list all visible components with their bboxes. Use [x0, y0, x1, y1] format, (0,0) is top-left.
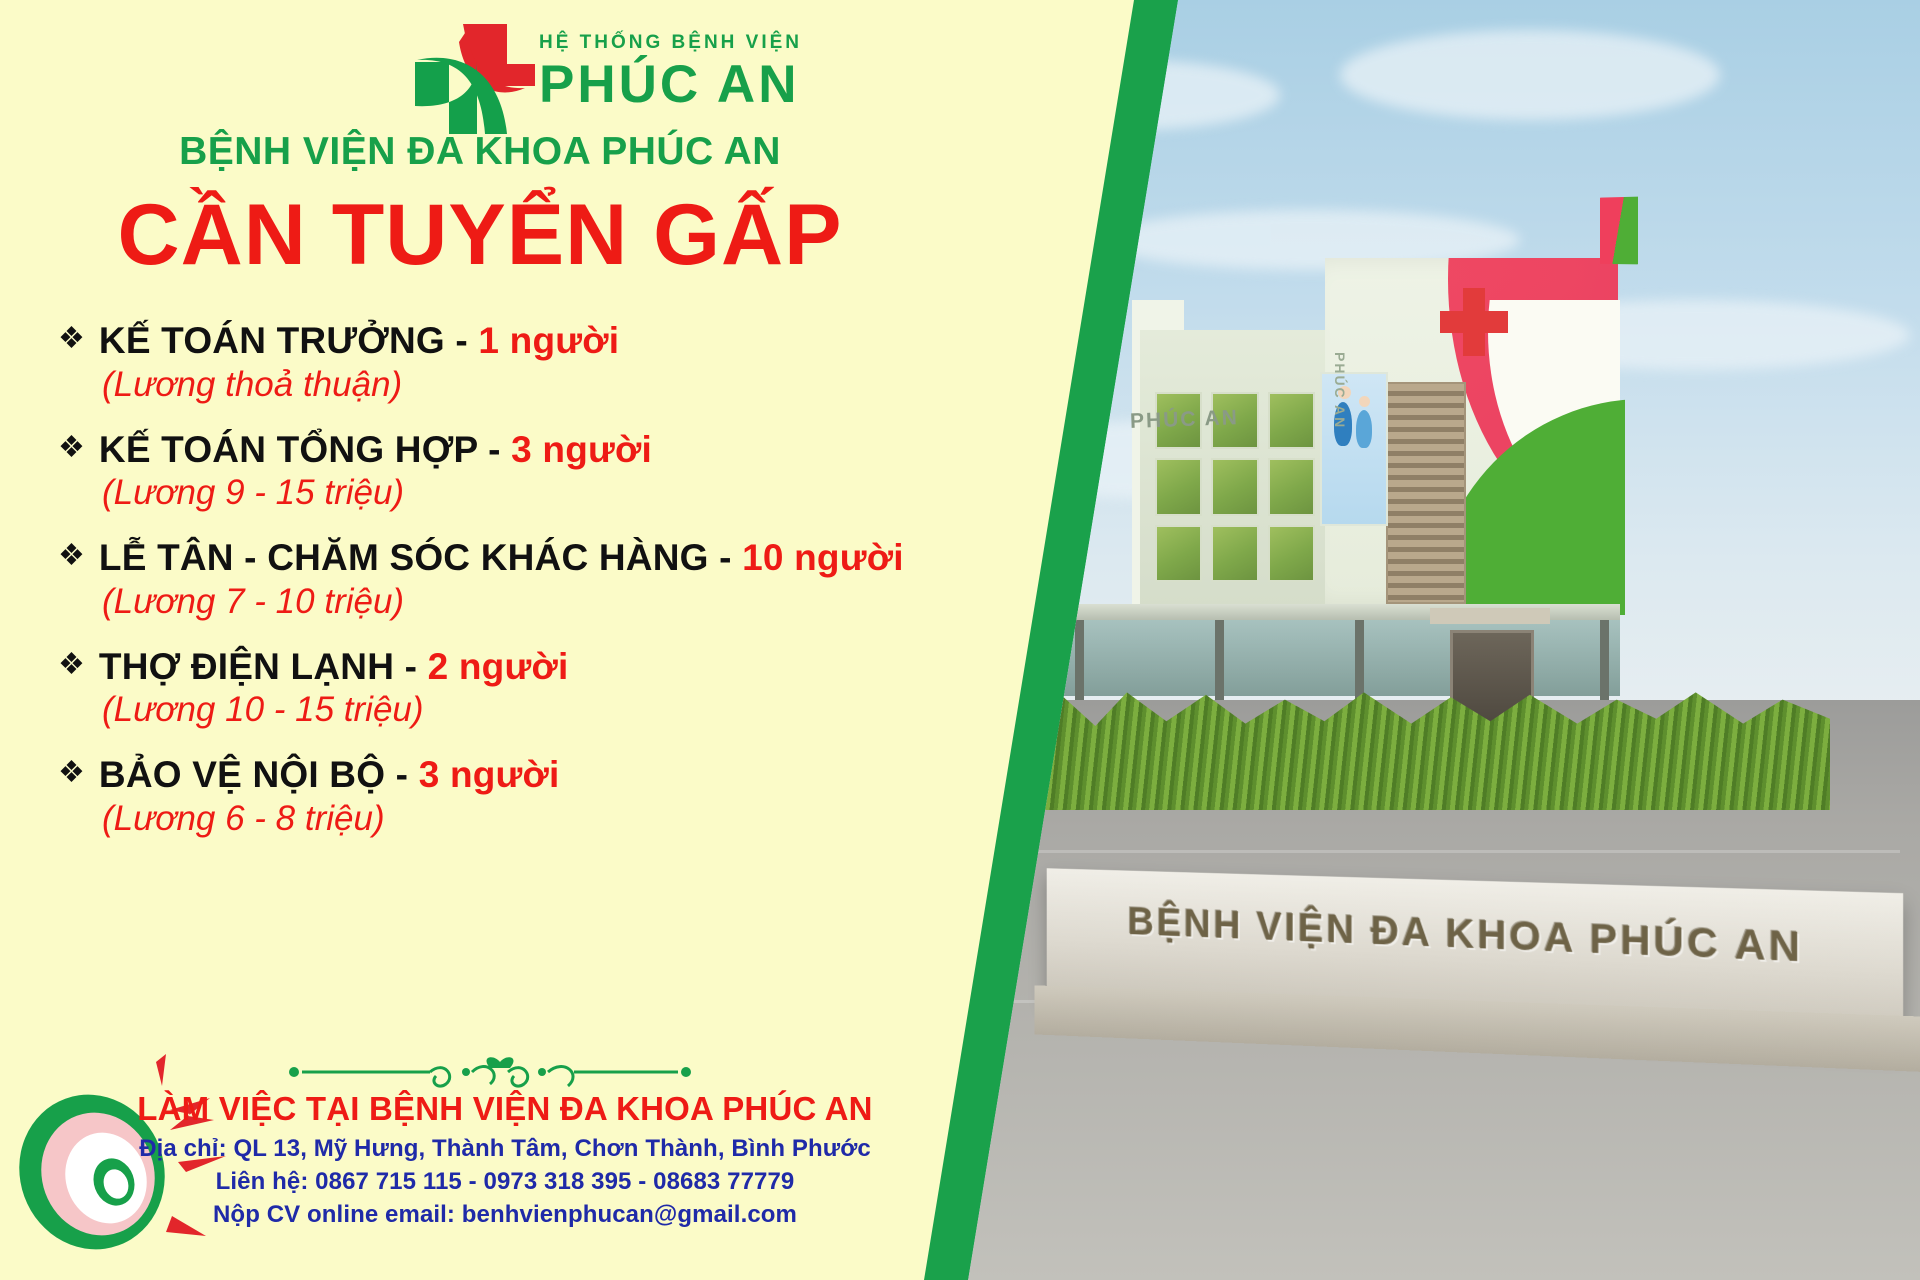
- job-title: KẾ TOÁN TRƯỞNG - 1 người: [99, 320, 619, 363]
- list-item: ❖ LỄ TÂN - CHĂM SÓC KHÁC HÀNG - 10 người…: [58, 537, 988, 622]
- floral-ornament-divider-icon: [280, 1052, 700, 1092]
- list-item: ❖ KẾ TOÁN TRƯỞNG - 1 người (Lương thoả t…: [58, 320, 988, 405]
- diamond-bullet-icon: ❖: [58, 756, 85, 791]
- diamond-bullet-icon: ❖: [58, 322, 85, 357]
- job-position: LỄ TÂN - CHĂM SÓC KHÁC HÀNG -: [99, 537, 742, 578]
- diamond-bullet-icon: ❖: [58, 431, 85, 466]
- hospital-name: BỆNH VIỆN ĐA KHOA PHÚC AN: [0, 130, 960, 174]
- facade-poster-panel: [1320, 372, 1388, 526]
- job-title: LỄ TÂN - CHĂM SÓC KHÁC HÀNG - 10 người: [99, 537, 904, 580]
- diamond-bullet-icon: ❖: [58, 539, 85, 574]
- job-salary: (Lương thoả thuận): [102, 365, 988, 405]
- address-line: Địa chỉ: QL 13, Mỹ Hưng, Thành Tâm, Chơn…: [110, 1132, 900, 1165]
- work-at-title: LÀM VIỆC TẠI BỆNH VIỆN ĐA KHOA PHÚC AN: [110, 1090, 900, 1128]
- footer-contact-block: LÀM VIỆC TẠI BỆNH VIỆN ĐA KHOA PHÚC AN Đ…: [110, 1090, 900, 1231]
- job-count: 1 người: [478, 320, 619, 361]
- building-facade-label: PHÚC AN: [1130, 406, 1240, 434]
- diamond-bullet-icon: ❖: [58, 648, 85, 683]
- job-salary: (Lương 7 - 10 triệu): [102, 582, 988, 622]
- job-position: KẾ TOÁN TỔNG HỢP -: [99, 429, 511, 470]
- job-list: ❖ KẾ TOÁN TRƯỞNG - 1 người (Lương thoả t…: [58, 320, 988, 863]
- email-line[interactable]: Nộp CV online email: benhvienphucan@gmai…: [110, 1198, 900, 1231]
- building-vertical-label: PHÚC AN: [1332, 352, 1348, 429]
- page-title: CẦN TUYỂN GẤP: [0, 190, 960, 280]
- medical-cross-swoosh-logo-icon: [415, 22, 525, 122]
- list-item: ❖ KẾ TOÁN TỔNG HỢP - 3 người (Lương 9 - …: [58, 429, 988, 514]
- left-content-panel: HỆ THỐNG BỆNH VIỆN PHÚC AN BỆNH VIỆN ĐA …: [0, 0, 1000, 1280]
- entrance-glass: [1060, 620, 1620, 696]
- entrance-sign-plate: [1430, 608, 1550, 624]
- job-count: 3 người: [419, 754, 560, 795]
- job-position: KẾ TOÁN TRƯỞNG -: [99, 320, 478, 361]
- facade-louver-screen: [1386, 382, 1466, 604]
- list-item: ❖ THỢ ĐIỆN LẠNH - 2 người (Lương 10 - 15…: [58, 646, 988, 731]
- job-salary: (Lương 9 - 15 triệu): [102, 473, 988, 513]
- red-cross-icon-bar: [1440, 311, 1508, 333]
- logo-name: PHÚC AN: [539, 58, 802, 111]
- job-salary: (Lương 10 - 15 triệu): [102, 690, 988, 730]
- job-position: THỢ ĐIỆN LẠNH -: [99, 646, 428, 687]
- brand-logo: HỆ THỐNG BỆNH VIỆN PHÚC AN: [415, 22, 802, 122]
- list-item: ❖ BẢO VỆ NỘI BỘ - 3 người (Lương 6 - 8 t…: [58, 754, 988, 839]
- job-count: 2 người: [428, 646, 569, 687]
- logo-tagline: HỆ THỐNG BỆNH VIỆN: [539, 33, 802, 52]
- job-position: BẢO VỆ NỘI BỘ -: [99, 754, 419, 795]
- job-title: BẢO VỆ NỘI BỘ - 3 người: [99, 754, 560, 797]
- recruitment-poster: BỆNH VIỆN ĐA KHOA PHÚC AN PHÚC AN PHÚC A…: [0, 0, 1920, 1280]
- job-title: KẾ TOÁN TỔNG HỢP - 3 người: [99, 429, 652, 472]
- job-count: 10 người: [742, 537, 904, 578]
- contact-phone-line[interactable]: Liên hệ: 0867 715 115 - 0973 318 395 - 0…: [110, 1165, 900, 1198]
- job-salary: (Lương 6 - 8 triệu): [102, 799, 988, 839]
- rooftop-flag: [1600, 192, 1638, 269]
- job-count: 3 người: [511, 429, 652, 470]
- job-title: THỢ ĐIỆN LẠNH - 2 người: [99, 646, 569, 689]
